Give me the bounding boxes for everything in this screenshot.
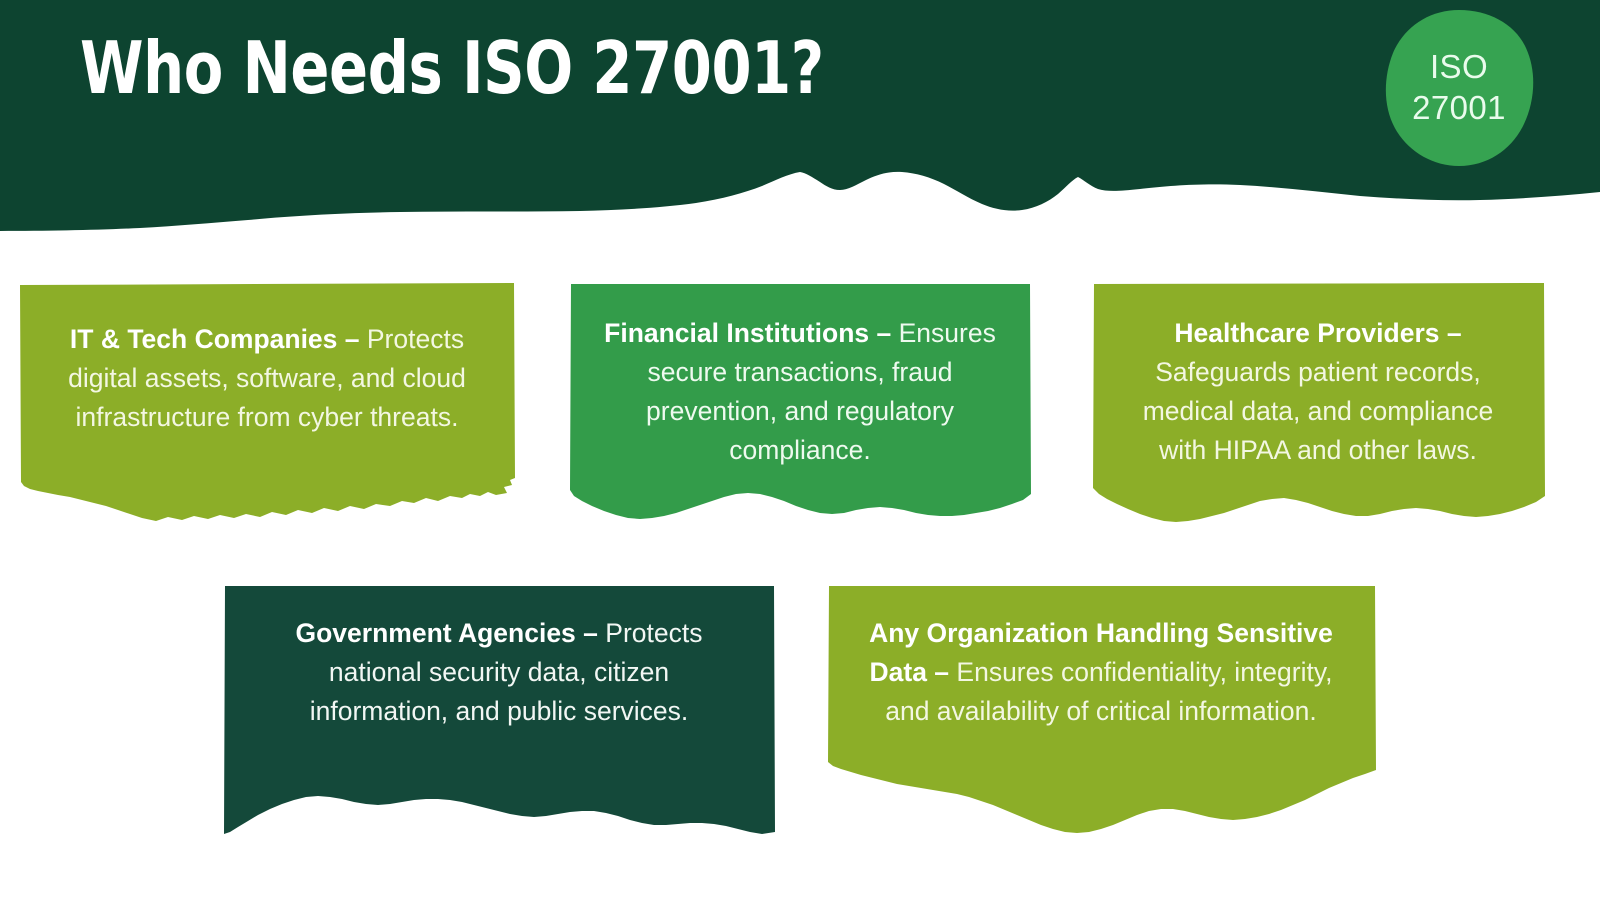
iso-badge: ISO 27001	[1383, 8, 1535, 168]
card-detail-text: Ensures confidentiality, integrity, and …	[885, 657, 1332, 726]
card-any-organization-sensitive-data[interactable]: Any Organization Handling Sensitive Data…	[825, 584, 1377, 834]
slide-canvas: Who Needs ISO 27001? ISO 27001 IT & Tech…	[0, 0, 1600, 900]
card-body-text: Government Agencies – Protects national …	[222, 584, 776, 731]
card-healthcare-providers[interactable]: Healthcare Providers – Safeguards patien…	[1090, 282, 1546, 540]
iso-badge-text-wrap: ISO 27001	[1383, 8, 1535, 168]
card-body-text: IT & Tech Companies – Protects digital a…	[18, 282, 516, 437]
card-lead-text: Financial Institutions –	[604, 318, 891, 348]
card-body-text: Any Organization Handling Sensitive Data…	[825, 584, 1377, 731]
card-lead-text: Government Agencies –	[296, 618, 598, 648]
card-detail-text: Safeguards patient records, medical data…	[1143, 357, 1494, 465]
card-body-text: Financial Institutions – Ensures secure …	[568, 282, 1032, 470]
iso-badge-line1: ISO	[1430, 48, 1488, 87]
card-lead-text: IT & Tech Companies –	[70, 324, 360, 354]
card-body-text: Healthcare Providers – Safeguards patien…	[1090, 282, 1546, 470]
page-title: Who Needs ISO 27001?	[80, 32, 824, 104]
card-government-agencies[interactable]: Government Agencies – Protects national …	[222, 584, 776, 836]
card-financial-institutions[interactable]: Financial Institutions – Ensures secure …	[568, 282, 1032, 532]
card-lead-text: Healthcare Providers –	[1174, 318, 1461, 348]
header-band: Who Needs ISO 27001? ISO 27001	[0, 0, 1600, 232]
iso-badge-line2: 27001	[1412, 89, 1506, 128]
card-it-tech-companies[interactable]: IT & Tech Companies – Protects digital a…	[18, 282, 516, 540]
